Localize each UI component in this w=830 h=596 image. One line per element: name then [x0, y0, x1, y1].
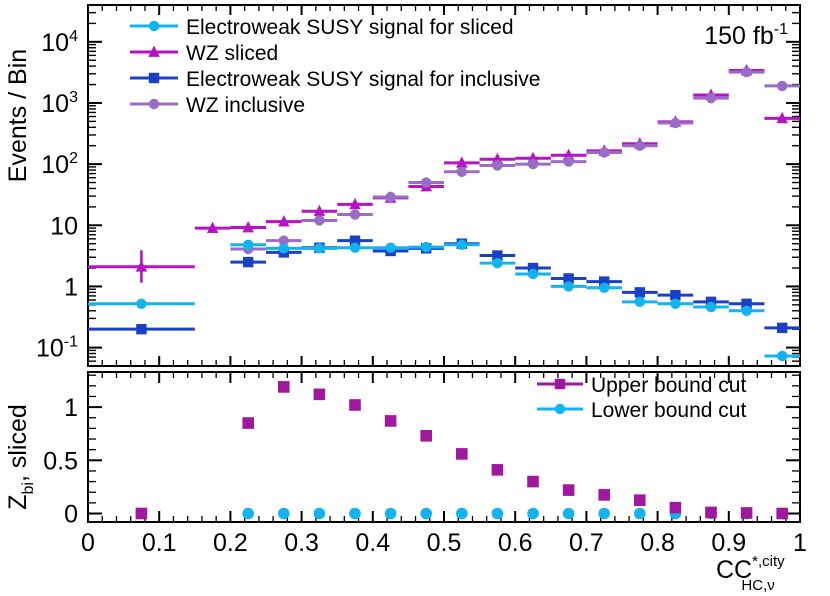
data-marker — [555, 379, 565, 389]
top-y-tick-label: 1 — [64, 273, 78, 301]
x-tick-label: 0.4 — [355, 529, 390, 557]
data-marker — [599, 147, 609, 157]
data-marker — [385, 415, 397, 427]
data-marker — [457, 167, 467, 177]
data-marker — [635, 297, 645, 307]
bottom-y-tick-label: 0.5 — [43, 447, 78, 475]
lumi-annotation: 150 fb-1 — [704, 21, 788, 50]
data-marker — [492, 508, 504, 520]
x-tick-label: 0.1 — [142, 529, 177, 557]
data-marker — [420, 508, 432, 520]
data-marker — [563, 156, 573, 166]
data-marker — [741, 507, 753, 519]
x-tick-label: 0 — [81, 529, 95, 557]
data-marker — [278, 508, 290, 520]
data-marker — [349, 399, 361, 411]
x-axis-title-group: CC*,cityHC,ν — [716, 553, 785, 594]
data-marker — [528, 269, 538, 279]
data-marker — [136, 299, 146, 309]
x-axis-title: CC*,cityHC,ν — [716, 553, 785, 594]
legend-label: Electroweak SUSY signal for inclusive — [186, 68, 540, 91]
data-marker — [149, 73, 159, 83]
top-legend: Electroweak SUSY signal for slicedWZ sli… — [130, 16, 540, 117]
data-marker — [741, 67, 751, 77]
data-marker — [492, 160, 502, 170]
data-marker — [706, 93, 716, 103]
data-marker — [385, 192, 395, 202]
data-marker — [243, 240, 253, 250]
data-marker — [456, 448, 468, 460]
legend-label: Lower bound cut — [591, 399, 746, 422]
x-tick-label: 0.8 — [640, 529, 675, 557]
data-marker — [350, 209, 360, 219]
legend-label: Upper bound cut — [591, 374, 746, 397]
legend-label: Electroweak SUSY signal for sliced — [186, 16, 514, 39]
data-marker — [563, 484, 575, 496]
top-y-tick-label: 103 — [41, 89, 78, 118]
data-marker — [279, 243, 289, 253]
data-marker — [670, 502, 682, 514]
legend-label: WZ inclusive — [186, 94, 305, 117]
data-marker — [242, 417, 254, 429]
data-marker — [136, 508, 148, 520]
x-tick-label: 0.7 — [569, 529, 604, 557]
axis-titles: Events / BinZbi, sliced — [4, 49, 37, 510]
data-marker — [314, 508, 326, 520]
legend-label: WZ sliced — [186, 42, 278, 65]
data-marker — [457, 240, 467, 250]
data-marker — [634, 508, 646, 520]
data-marker — [420, 430, 432, 442]
top-y-tick-label: 10 — [50, 212, 78, 240]
bottom-y-tick-label: 0 — [64, 500, 78, 528]
data-marker — [670, 118, 680, 128]
data-marker — [278, 381, 290, 393]
x-tick-label: 0.6 — [498, 529, 533, 557]
data-marker — [705, 507, 717, 519]
x-tick-label: 0.5 — [427, 529, 462, 557]
data-marker — [706, 302, 716, 312]
data-marker — [527, 508, 539, 520]
data-marker — [528, 159, 538, 169]
series-lower-bound-cut — [136, 508, 788, 520]
physics-plot-svg: 10410310210110-100.5100.10.20.30.40.50.6… — [0, 0, 830, 596]
data-marker — [635, 141, 645, 151]
top-y-tick-label: 102 — [41, 150, 78, 179]
x-tick-label: 1 — [793, 529, 807, 557]
top-y-tick-label: 10-1 — [36, 334, 78, 363]
data-marker — [599, 283, 609, 293]
data-marker — [314, 215, 324, 225]
data-marker — [634, 494, 646, 506]
top-y-axis-title: Events / Bin — [4, 49, 32, 182]
data-marker — [777, 81, 787, 91]
data-marker — [385, 242, 395, 252]
bottom-y-tick-label: 1 — [64, 394, 78, 422]
data-marker — [149, 21, 159, 31]
data-marker — [243, 257, 253, 267]
x-tick-label: 0.2 — [213, 529, 248, 557]
data-marker — [385, 508, 397, 520]
data-marker — [741, 306, 751, 316]
x-tick-label: 0.3 — [284, 529, 319, 557]
data-marker — [314, 389, 326, 401]
data-marker — [777, 351, 787, 361]
data-marker — [242, 508, 254, 520]
bottom-legend: Upper bound cutLower bound cut — [537, 374, 746, 422]
data-marker — [350, 242, 360, 252]
data-marker — [314, 243, 324, 253]
data-marker — [527, 476, 539, 488]
data-marker — [421, 177, 431, 187]
data-marker — [598, 508, 610, 520]
data-marker — [598, 489, 610, 501]
data-marker — [670, 299, 680, 309]
bottom-y-axis-title: Zbi, sliced — [4, 404, 37, 510]
data-marker — [421, 242, 431, 252]
data-marker — [456, 508, 468, 520]
data-marker — [555, 404, 565, 414]
data-marker — [563, 281, 573, 291]
data-marker — [776, 508, 788, 520]
data-marker — [492, 464, 504, 476]
top-y-tick-label: 104 — [41, 28, 78, 57]
lumi-label: 150 fb-1 — [704, 21, 788, 50]
data-marker — [635, 287, 645, 297]
data-marker — [563, 508, 575, 520]
data-marker — [149, 99, 159, 109]
data-marker — [777, 323, 787, 333]
data-marker — [349, 508, 361, 520]
x-tick-label: 0.9 — [711, 529, 746, 557]
data-marker — [136, 324, 146, 334]
data-marker — [492, 258, 502, 268]
figure-root: 10410310210110-100.5100.10.20.30.40.50.6… — [0, 0, 830, 596]
series-electroweak-susy-signal-for-inclusive — [88, 235, 800, 334]
